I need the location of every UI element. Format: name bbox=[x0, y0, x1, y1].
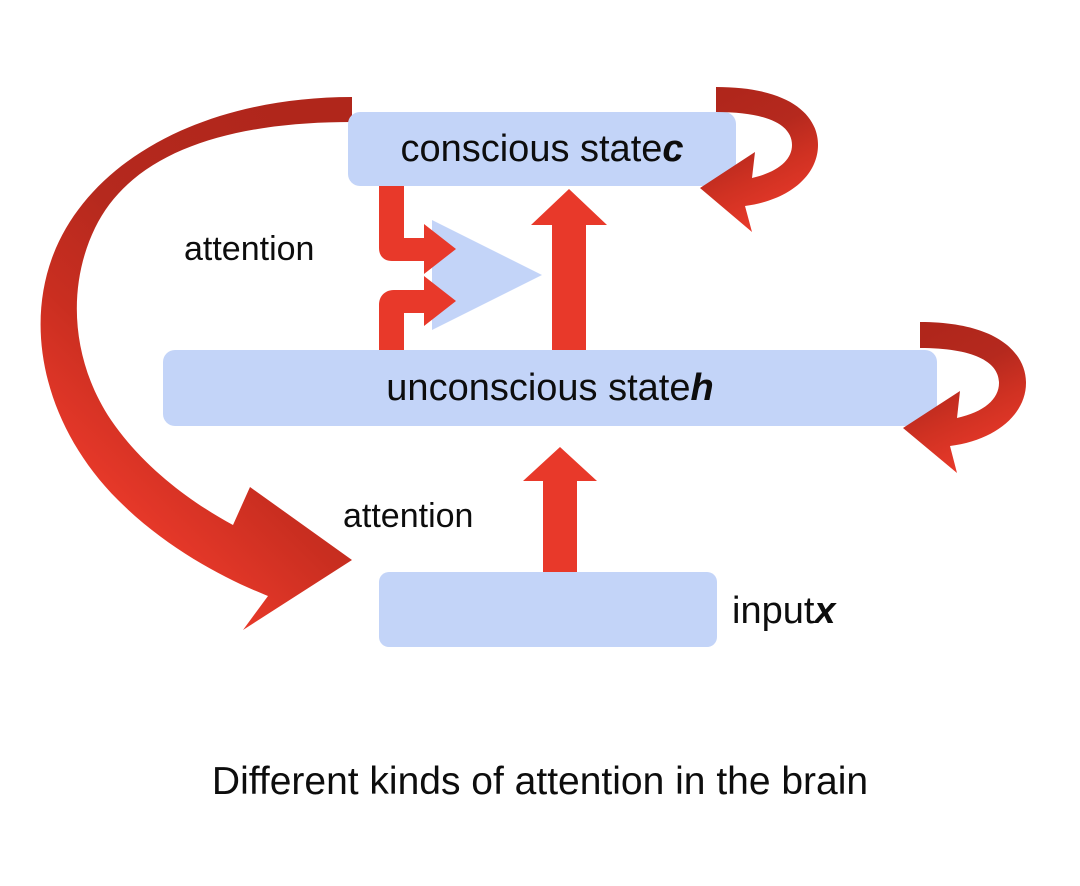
attention-gate-triangle bbox=[432, 220, 542, 330]
unconscious-state-variable: h bbox=[690, 369, 713, 407]
edge-input-to-unconscious bbox=[523, 447, 597, 572]
node-input[interactable] bbox=[379, 572, 717, 647]
conscious-state-label: conscious state c bbox=[348, 112, 736, 186]
input-node-label: input x bbox=[732, 583, 836, 639]
unconscious-state-text: unconscious state bbox=[386, 369, 690, 407]
diagram-canvas: conscious state c unconscious state h in… bbox=[0, 0, 1080, 886]
input-variable: x bbox=[814, 592, 835, 630]
edge-unconscious-to-conscious bbox=[531, 189, 607, 350]
conscious-state-text: conscious state bbox=[400, 130, 662, 168]
input-text: input bbox=[732, 592, 814, 630]
figure-caption: Different kinds of attention in the brai… bbox=[0, 760, 1080, 804]
conscious-state-variable: c bbox=[662, 130, 683, 168]
attention-bottom-annotation: attention bbox=[343, 499, 473, 533]
unconscious-state-label: unconscious state h bbox=[163, 350, 937, 426]
attention-top-annotation: attention bbox=[184, 232, 314, 266]
